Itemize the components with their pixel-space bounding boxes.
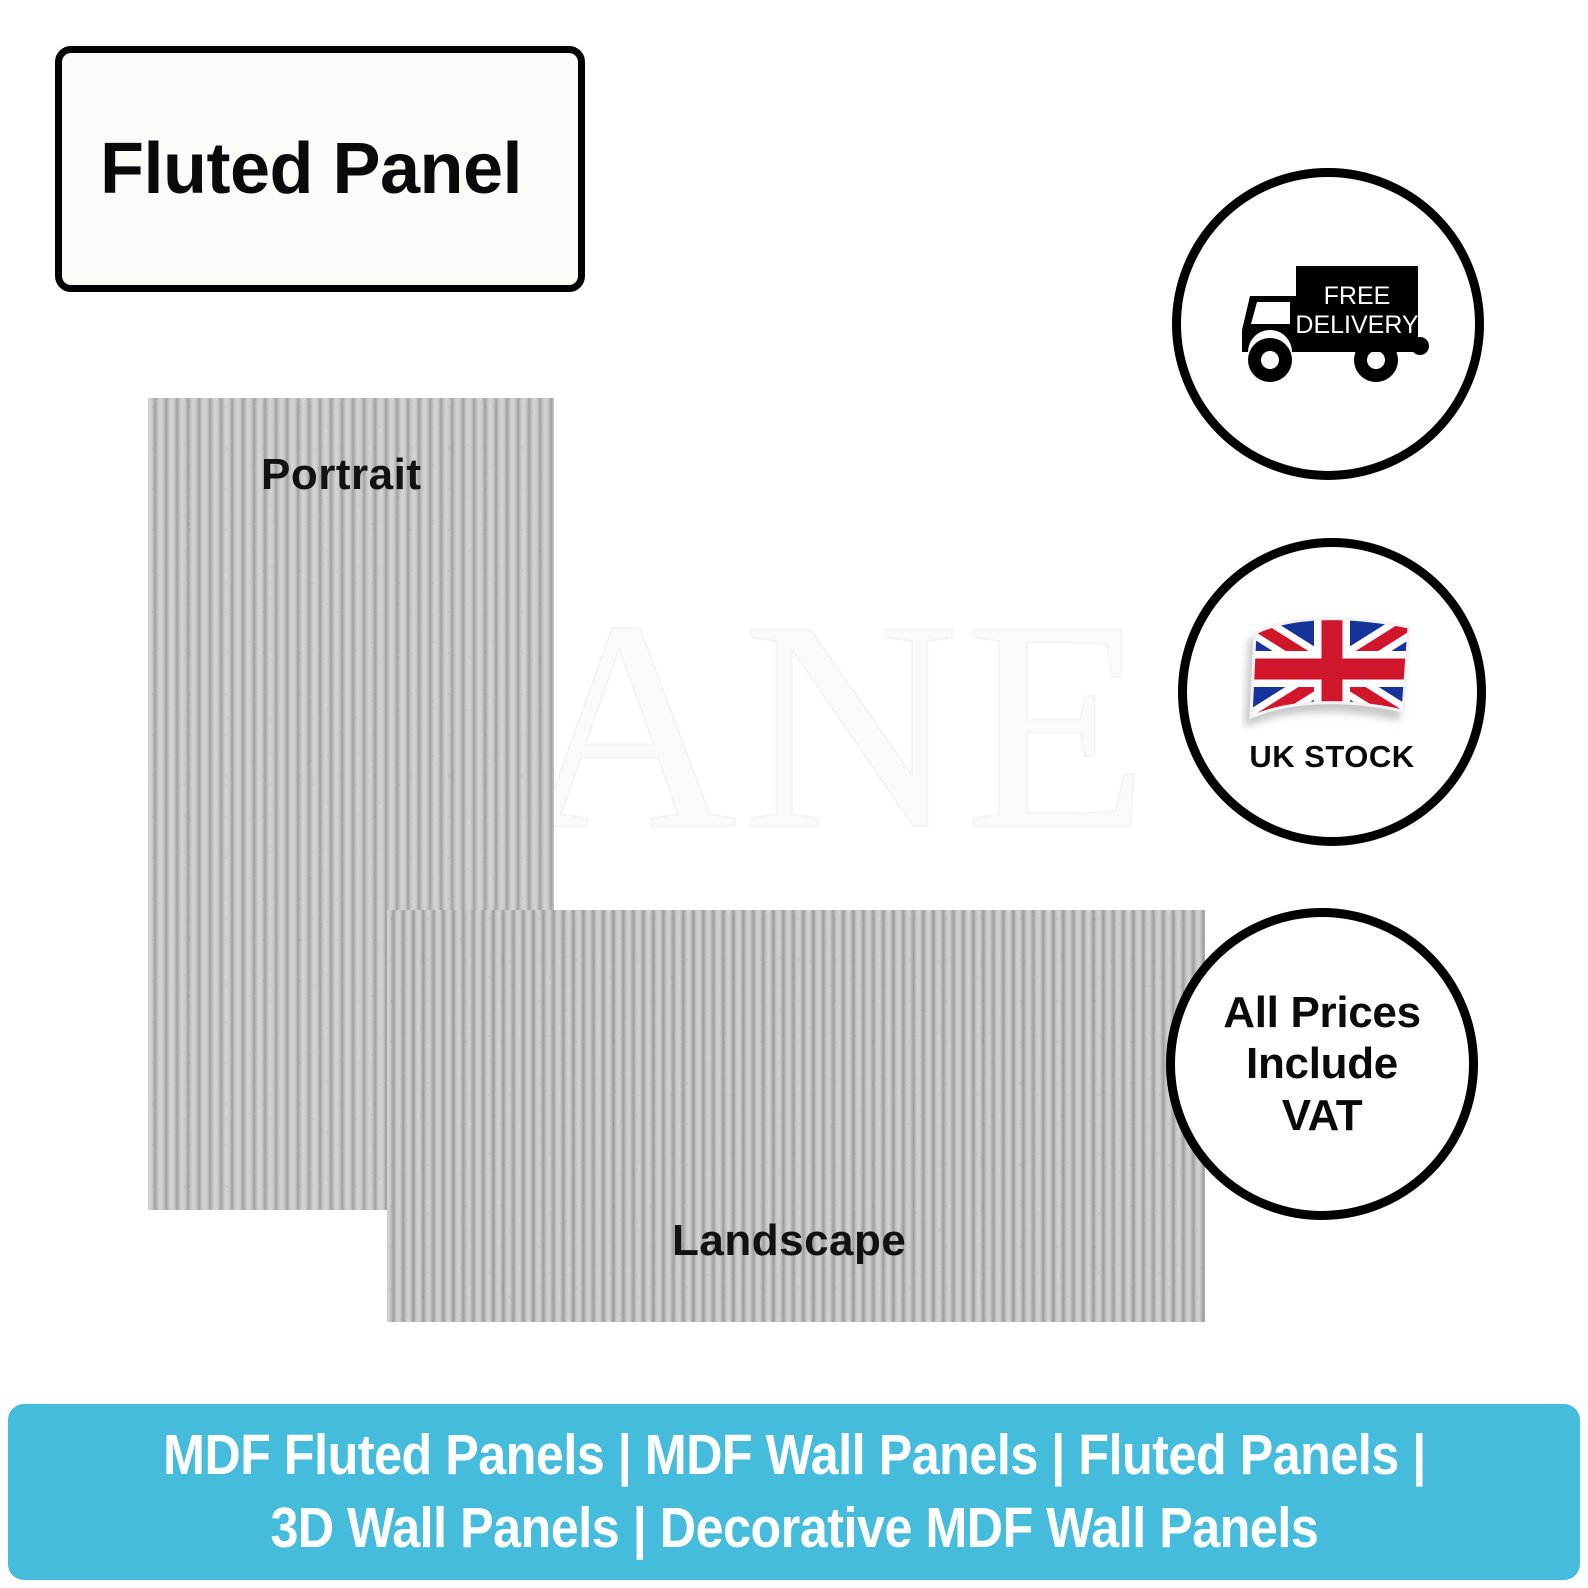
keyword-banner-line-1: MDF Fluted Panels | MDF Wall Panels | Fl… bbox=[163, 1419, 1426, 1492]
vat-text-line-2: Include bbox=[1246, 1038, 1398, 1089]
keyword-banner-line-2: 3D Wall Panels | Decorative MDF Wall Pan… bbox=[270, 1492, 1318, 1565]
badge-all-prices-include-vat: All Prices Include VAT bbox=[1166, 908, 1478, 1220]
product-title-badge: Fluted Panel bbox=[55, 46, 585, 292]
badge-uk-stock: UK STOCK bbox=[1178, 538, 1486, 846]
badge-free-delivery: FREE DELIVERY bbox=[1172, 168, 1484, 480]
panel-label-landscape: Landscape bbox=[672, 1216, 906, 1266]
brand-watermark: ANE bbox=[520, 560, 1180, 890]
keyword-banner: MDF Fluted Panels | MDF Wall Panels | Fl… bbox=[8, 1404, 1580, 1580]
vat-text-line-1: All Prices bbox=[1223, 987, 1421, 1038]
panel-label-portrait: Portrait bbox=[261, 450, 421, 500]
truck-text-line-1: FREE bbox=[1324, 282, 1391, 310]
flag-container bbox=[1241, 611, 1423, 735]
union-jack-flag-icon bbox=[1241, 611, 1423, 735]
vat-text-line-3: VAT bbox=[1282, 1090, 1363, 1141]
badge-uk-stock-caption: UK STOCK bbox=[1249, 741, 1414, 774]
page-title: Fluted Panel bbox=[62, 128, 522, 210]
delivery-truck-icon: FREE DELIVERY bbox=[1224, 260, 1432, 388]
truck-text-line-2: DELIVERY bbox=[1295, 311, 1419, 339]
product-image-canvas: ANE Portrait Landscape Fluted Panel bbox=[0, 0, 1588, 1588]
